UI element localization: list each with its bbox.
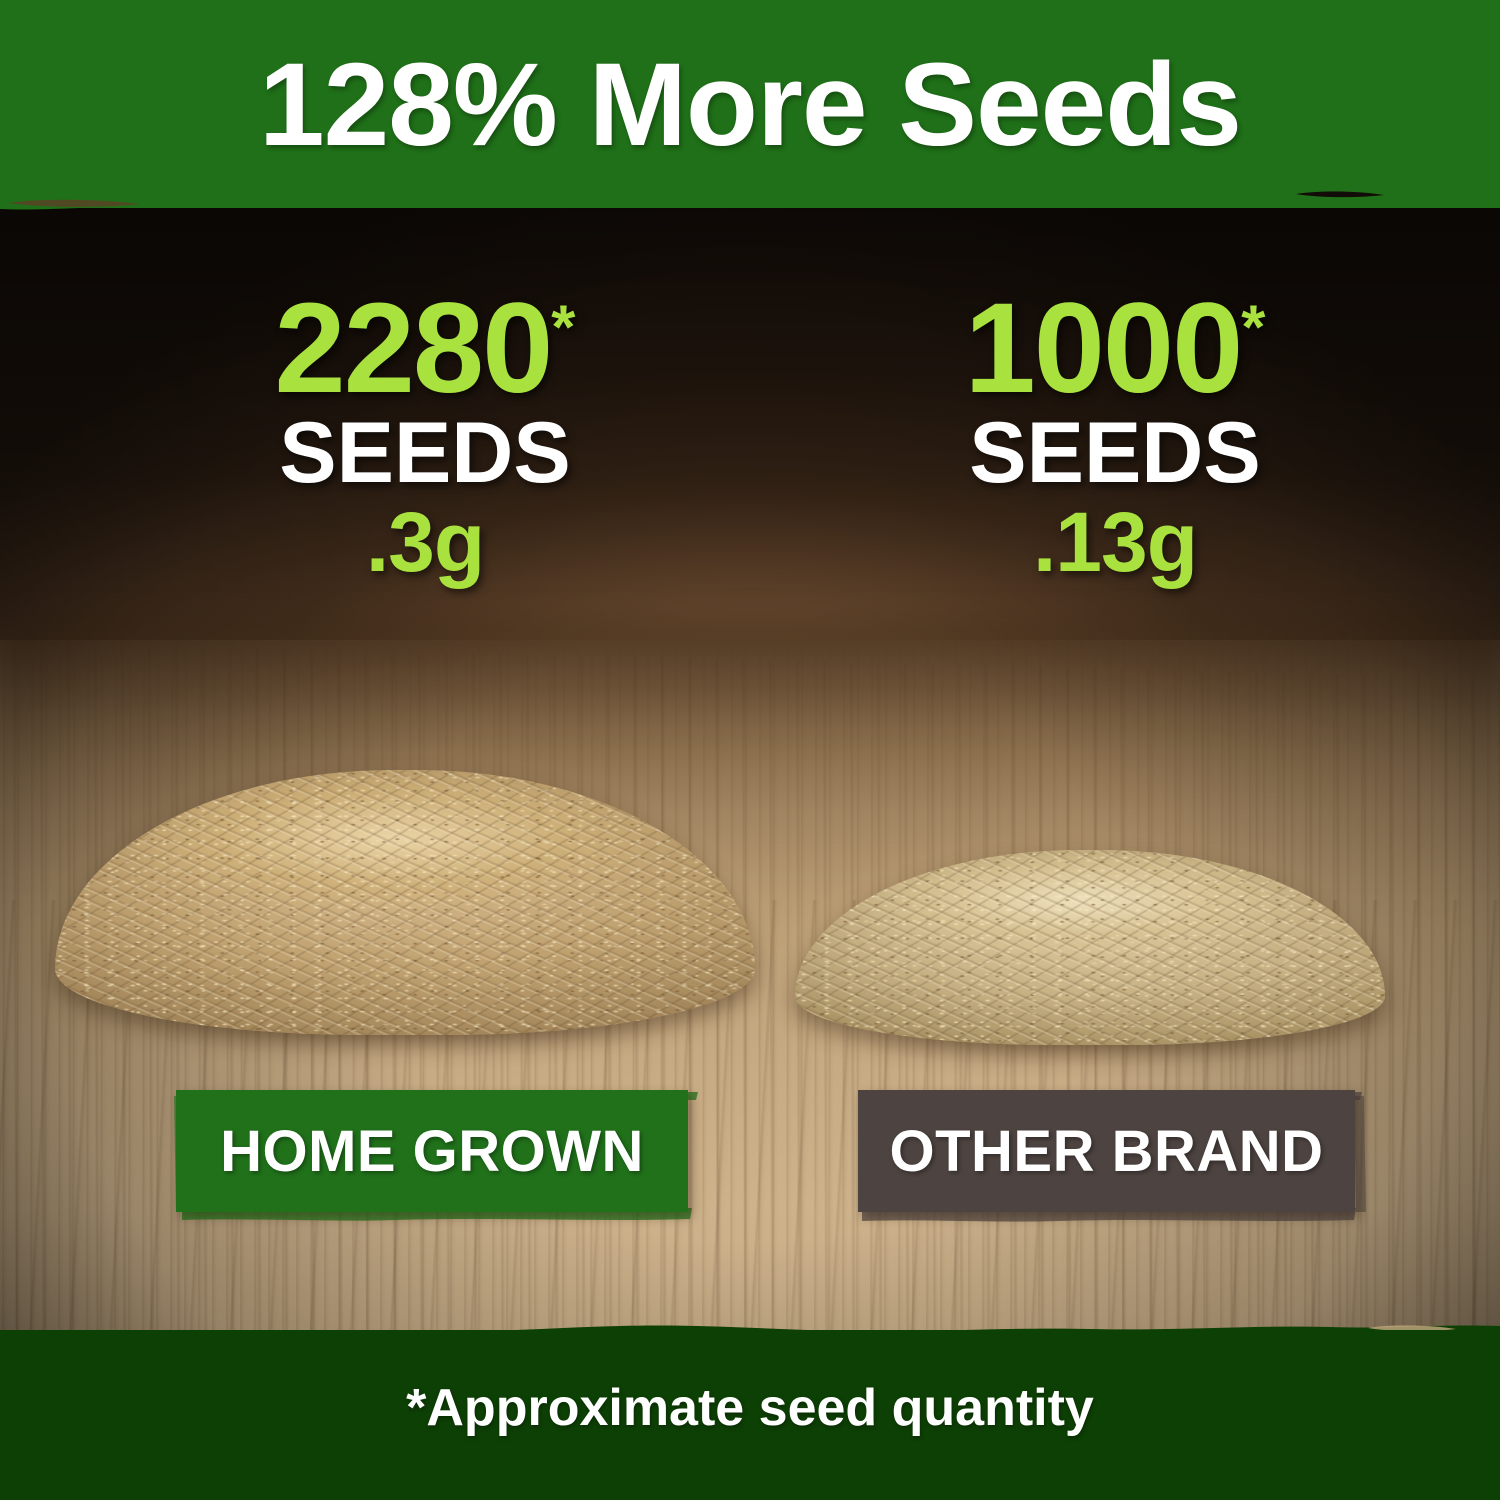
seed-count-other-brand: 1000* <box>855 290 1375 408</box>
seed-unit-label-other-brand: SEEDS <box>855 410 1375 496</box>
banner-home-grown: HOME GROWN <box>176 1090 688 1212</box>
seed-count-value: 1000 <box>965 277 1242 420</box>
banner-other-brand: OTHER BRAND <box>858 1090 1355 1212</box>
asterisk-marker: * <box>1241 293 1265 362</box>
vignette-overlay <box>0 0 1500 1500</box>
stat-block-other-brand: 1000* SEEDS .13g <box>855 290 1375 584</box>
page-title: 128% More Seeds <box>0 46 1500 164</box>
seed-count-home-grown: 2280* <box>165 290 685 408</box>
banner-label-other-brand: OTHER BRAND <box>889 1118 1323 1185</box>
seed-pile-home-grown <box>55 770 755 1035</box>
seed-unit-label-home-grown: SEEDS <box>165 410 685 496</box>
seed-comparison-infographic: 128% More Seeds 2280* SEEDS .3g 1000* SE… <box>0 0 1500 1500</box>
pile-dark-seed-flecks <box>795 850 1385 1045</box>
seed-count-value: 2280 <box>275 277 552 420</box>
pile-seed-grain <box>55 770 755 1035</box>
seed-weight-home-grown: .3g <box>165 500 685 584</box>
stat-block-home-grown: 2280* SEEDS .3g <box>165 290 685 584</box>
seed-weight-other-brand: .13g <box>855 500 1375 584</box>
wood-table-photo <box>0 0 1500 1500</box>
seed-pile-other-brand <box>795 850 1385 1045</box>
banner-label-home-grown: HOME GROWN <box>220 1118 644 1185</box>
asterisk-marker: * <box>551 293 575 362</box>
footer-disclaimer: *Approximate seed quantity <box>0 1378 1500 1438</box>
